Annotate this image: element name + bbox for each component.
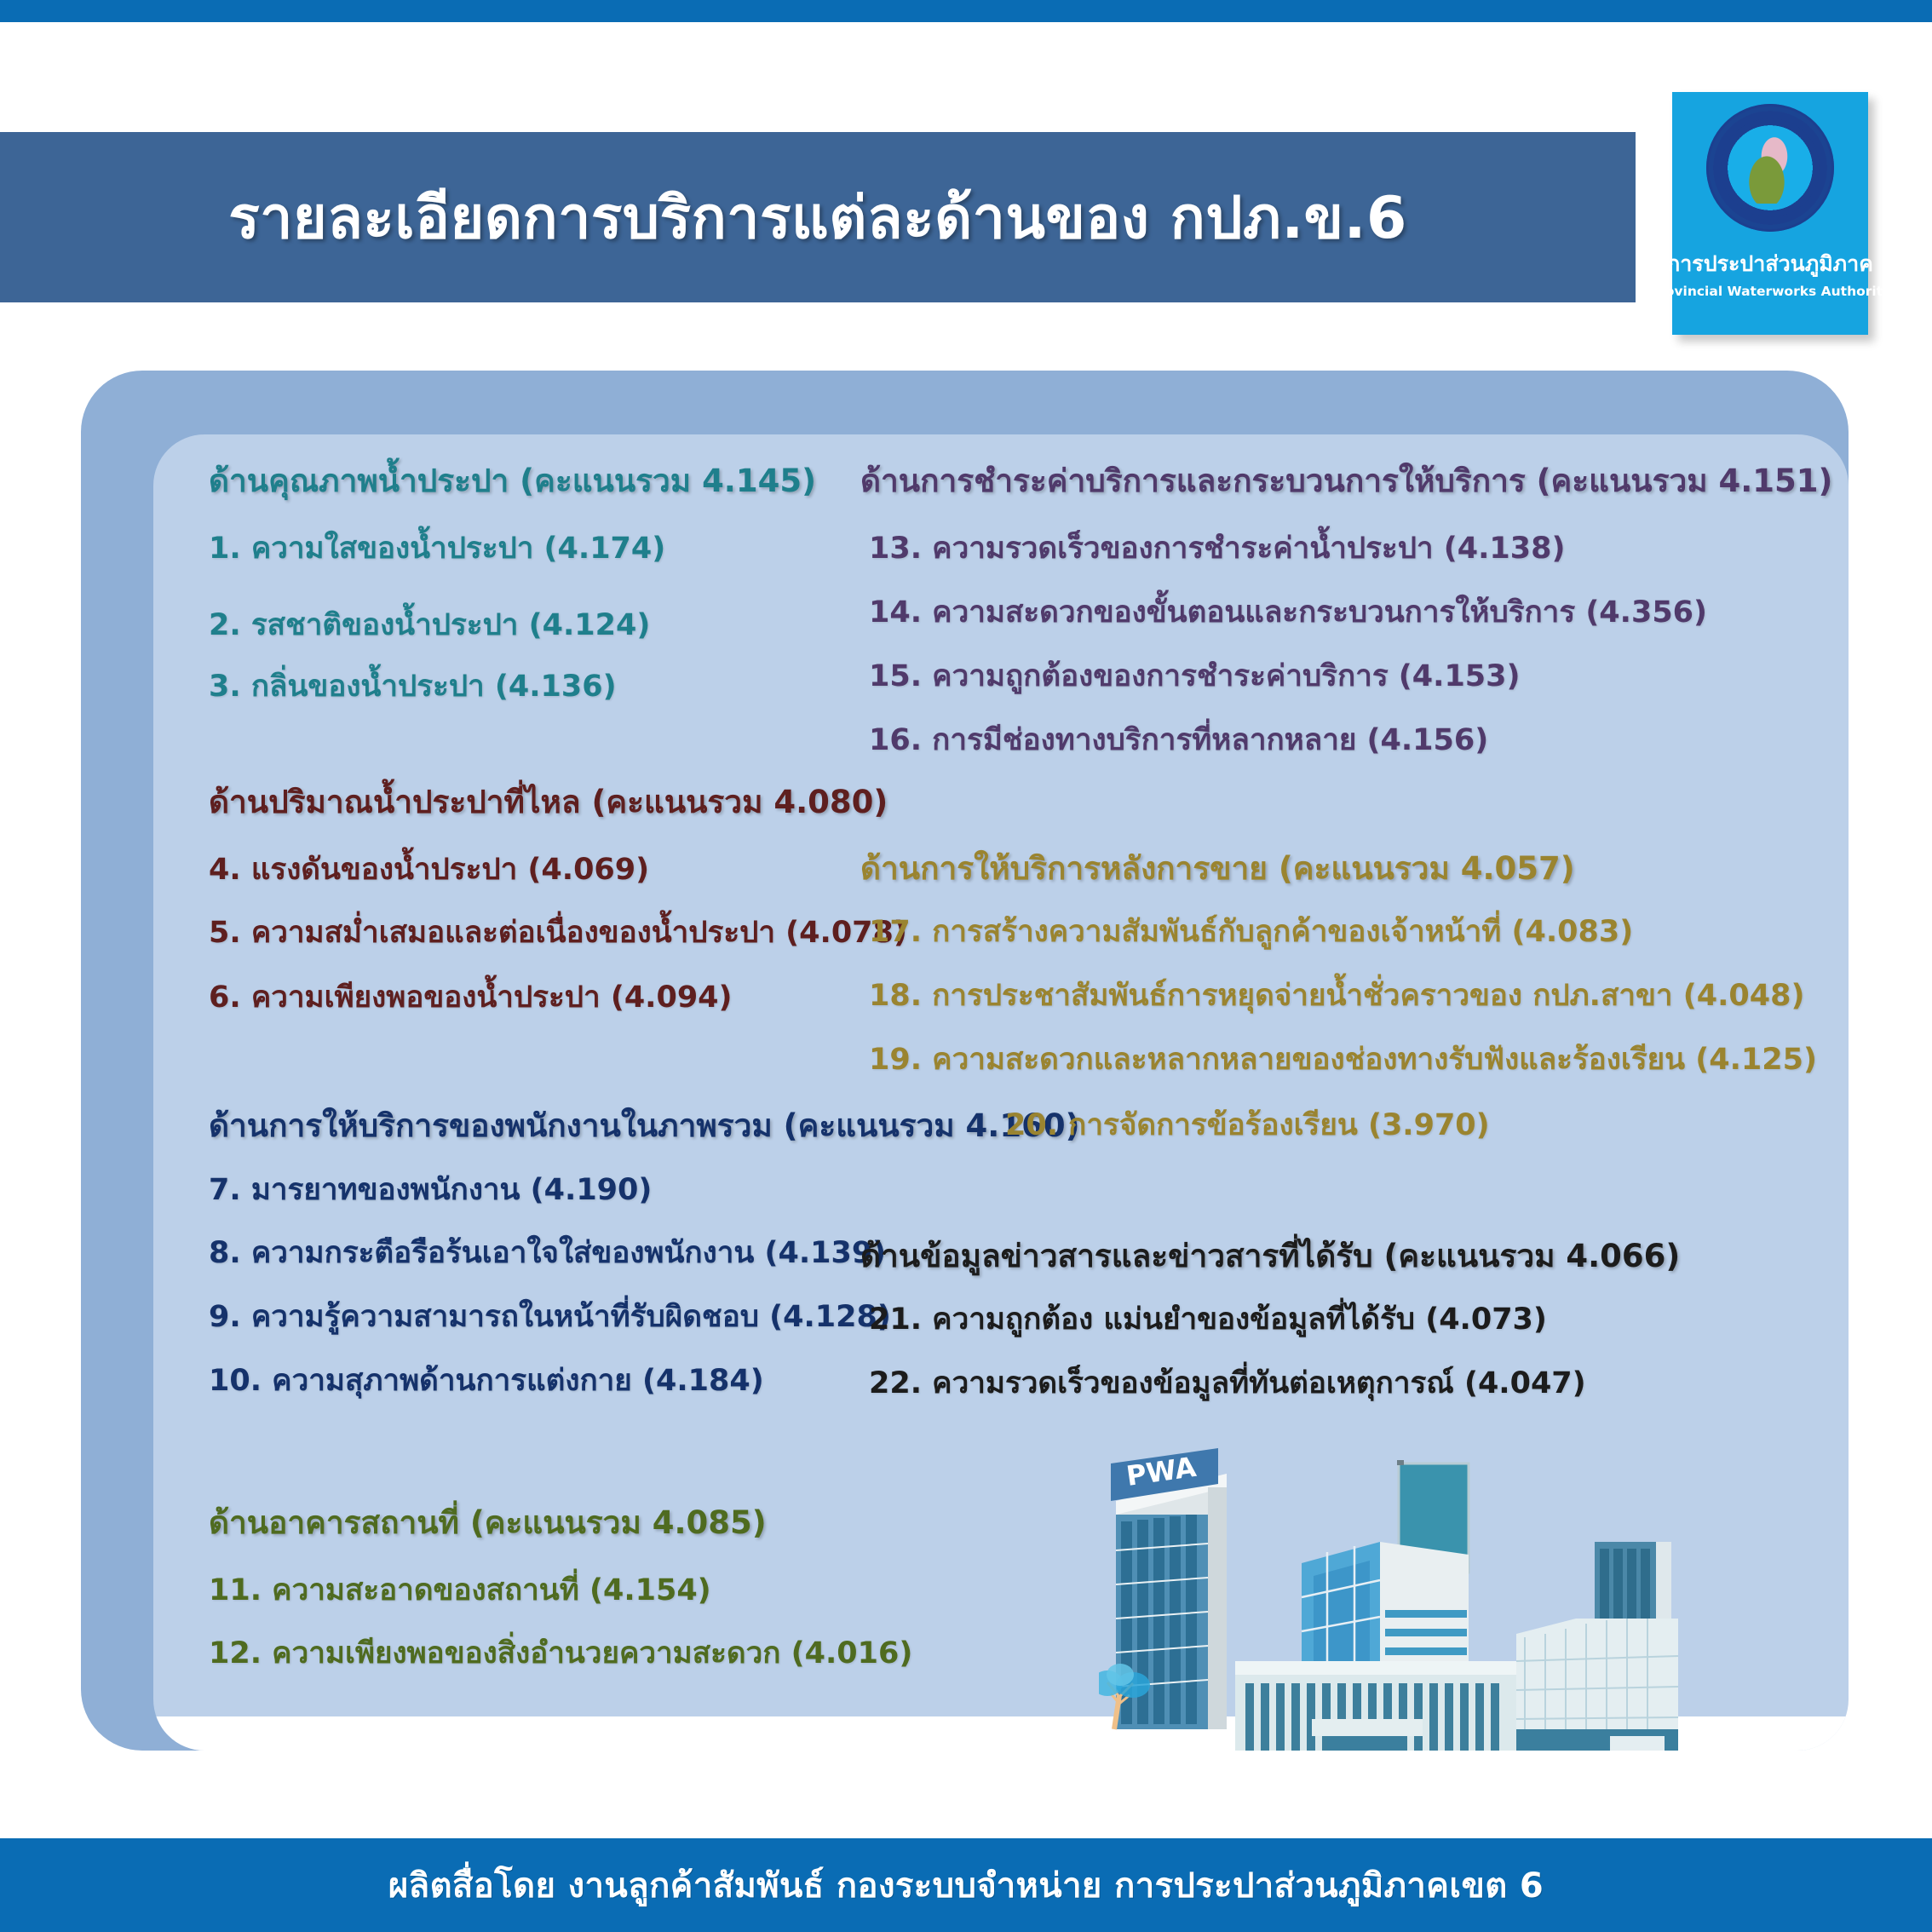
item-4: 4. แรงดันของน้ำประปา (4.069) [209,854,649,887]
footer-credit: ผลิตสื่อโดย งานลูกค้าสัมพันธ์ กองระบบจำห… [388,1858,1544,1912]
item-6: 6. ความเพียงพอของน้ำประปา (4.094) [209,981,733,1015]
pwa-office-building-illustration: PWA [1099,1448,1772,1751]
title-band: รายละเอียดการบริการแต่ละด้านของ กปภ.ข.6 [0,132,1636,302]
top-blue-rail [0,0,1932,22]
item-21: 21. ความถูกต้อง แม่นยำของข้อมูลที่ได้รับ… [869,1303,1547,1337]
pwa-seal-icon [1706,104,1834,232]
section-heading: ด้านคุณภาพน้ำประปา (คะแนนรวม 4.145) [209,464,816,499]
item-14: 14. ความสะดวกของขั้นตอนและกระบวนการให้บร… [869,596,1707,630]
section-heading-staff-service: ด้านการให้บริการของพนักงานในภาพรวม (คะแน… [209,1109,1080,1144]
infographic-page: รายละเอียดการบริการแต่ละด้านของ กปภ.ข.6 … [0,0,1932,1932]
seal-ring [1706,104,1834,232]
item-1: 1. ความใสของน้ำประปา (4.174) [209,532,665,566]
item-15: 15. ความถูกต้องของการชำระค่าบริการ (4.15… [869,660,1521,693]
section-heading-information: ด้านข้อมูลข่าวสารและข่าวสารที่ได้รับ (คะ… [860,1239,1680,1274]
section-heading-water-quantity: ด้านปริมาณน้ำประปาที่ไหล (คะแนนรวม 4.080… [209,785,888,820]
item-18: 18. การประชาสัมพันธ์การหยุดจ่ายน้ำชั่วคร… [869,980,1804,1013]
item-16: 16. การมีช่องทางบริการที่หลากหลาย (4.156… [869,724,1488,757]
item-9: 9. ความรู้ความสามารถในหน้าที่รับผิดชอบ (… [209,1301,891,1334]
section-heading-payment-process: ด้านการชำระค่าบริการและกระบวนการให้บริกา… [860,464,1832,499]
item-11: 11. ความสะอาดของสถานที่ (4.154) [209,1574,711,1607]
page-title: รายละเอียดการบริการแต่ละด้านของ กปภ.ข.6 [228,171,1407,263]
item-12: 12. ความเพียงพอของสิ่งอำนวยความสะดวก (4.… [209,1637,912,1670]
item-7: 7. มารยาทของพนักงาน (4.190) [209,1174,652,1207]
bottom-blue-rail: ผลิตสื่อโดย งานลูกค้าสัมพันธ์ กองระบบจำห… [0,1838,1932,1932]
section-heading-premises: ด้านอาคารสถานที่ (คะแนนรวม 4.085) [209,1506,767,1541]
item-17: 17. การสร้างความสัมพันธ์กับลูกค้าของเจ้า… [869,916,1633,949]
item-2: 2. รสชาติของน้ำประปา (4.124) [209,609,650,642]
item-13: 13. ความรวดเร็วของการชำระค่าน้ำประปา (4.… [869,532,1565,566]
section-heading-after-sales: ด้านการให้บริการหลังการขาย (คะแนนรวม 4.0… [860,852,1575,887]
item-3: 3. กลิ่นของน้ำประปา (4.136) [209,670,617,704]
item-5: 5. ความสม่ำเสมอและต่อเนื่องของน้ำประปา (… [209,917,907,950]
logo-name-thai: การประปาส่วนภูมิภาค [1667,247,1873,281]
pwa-logo-card: การประปาส่วนภูมิภาค Provincial Waterwork… [1672,92,1868,335]
item-10: 10. ความสุภาพด้านการแต่งกาย (4.184) [209,1365,764,1398]
section-water-quality: ด้านคุณภาพน้ำประปา (คะแนนรวม 4.145) [209,464,816,499]
item-22: 22. ความรวดเร็วของข้อมูลที่ทันต่อเหตุการ… [869,1367,1586,1400]
item-19: 19. ความสะดวกและหลากหลายของช่องทางรับฟัง… [869,1044,1817,1077]
item-20: 20. การจัดการข้อร้องเรียน (3.970) [1005,1109,1490,1142]
logo-name-english: Provincial Waterworks Authority [1649,284,1891,299]
item-8: 8. ความกระตือรือร้นเอาใจใส่ของพนักงาน (4… [209,1237,886,1270]
